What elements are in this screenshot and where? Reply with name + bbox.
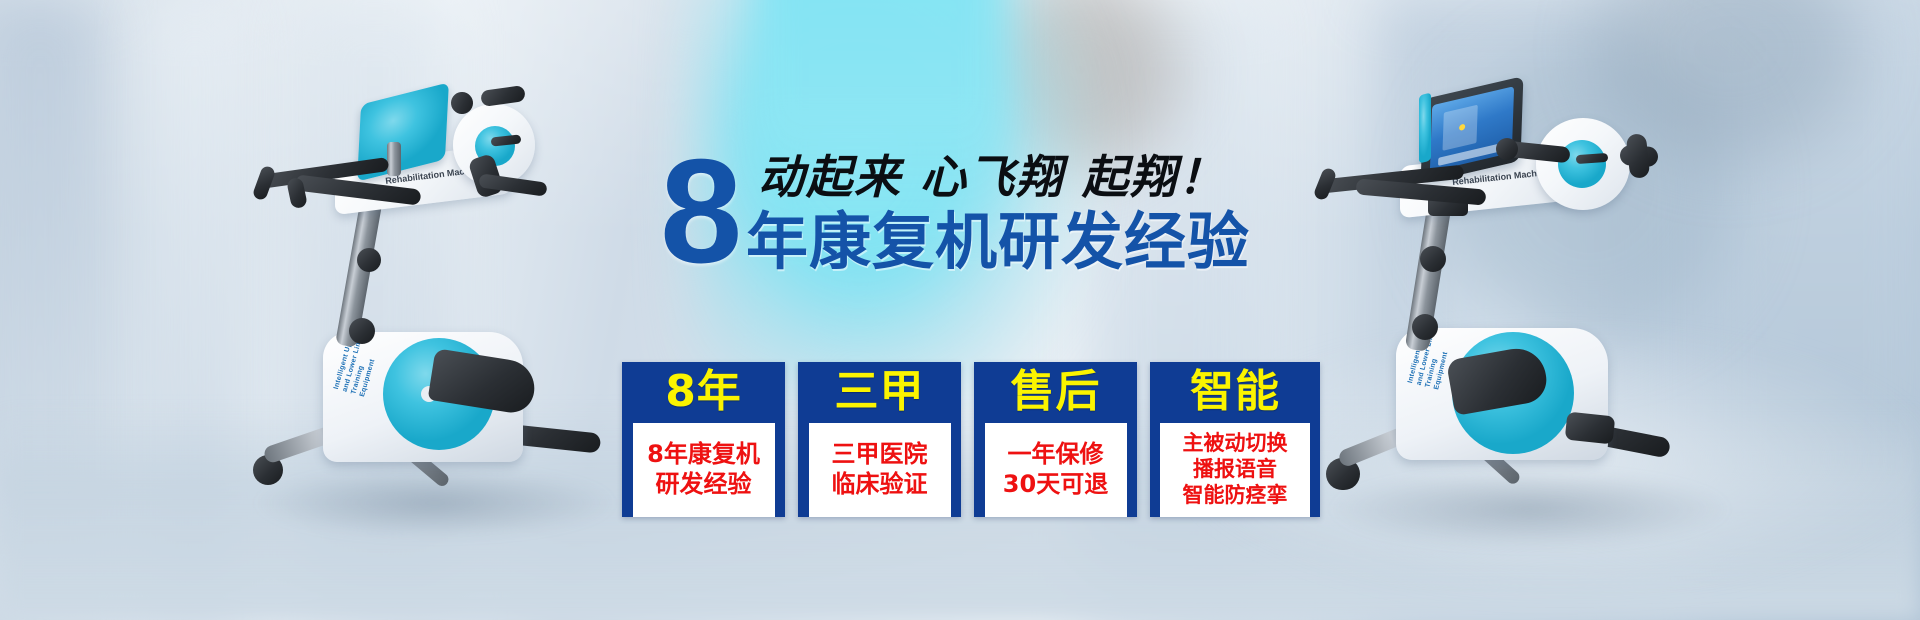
lower-pedal-strap — [1565, 412, 1616, 445]
feature-card-line: 三甲医院 — [832, 439, 928, 469]
feature-card-line: 30天可退 — [1003, 469, 1108, 499]
height-knob-upper — [357, 248, 381, 272]
arm-wheel-cap — [1626, 133, 1650, 179]
feature-card-title: 售后 — [1011, 366, 1101, 418]
product-shadow — [1330, 470, 1730, 548]
headline-block: 8 动起来 心飞翔 起翔！ 年康复机研发经验 — [660, 150, 1300, 300]
feature-card-list: 8年 8年康复机 研发经验 三甲 三甲医院 临床验证 售后 一年保修 30天可退… — [622, 362, 1320, 517]
product-image-right: Intelligent Upper and Lower Limb Trainin… — [1300, 60, 1760, 550]
feature-card-years[interactable]: 8年 8年康复机 研发经验 — [622, 362, 785, 517]
height-knob-lower — [349, 318, 375, 344]
height-knob-lower — [1412, 314, 1438, 340]
arm-handle-knob — [1496, 138, 1518, 160]
feature-card-panel: 8年康复机 研发经验 — [633, 423, 775, 517]
feature-card-panel: 一年保修 30天可退 — [985, 423, 1127, 517]
feature-card-line: 智能防痉挛 — [1183, 482, 1288, 508]
feature-card-aftersales[interactable]: 售后 一年保修 30天可退 — [974, 362, 1137, 517]
headline-big-number: 8 — [660, 138, 742, 286]
feature-card-line: 研发经验 — [656, 469, 752, 499]
feature-card-panel: 三甲医院 临床验证 — [809, 423, 951, 517]
feature-card-hospital[interactable]: 三甲 三甲医院 临床验证 — [798, 362, 961, 517]
feature-card-panel: 主被动切换 播报语音 智能防痉挛 — [1160, 423, 1310, 517]
product-image-left: Intelligent Upper and Lower Limb Trainin… — [235, 70, 655, 540]
headline-slogan: 动起来 心飞翔 起翔！ — [758, 152, 1226, 202]
feature-card-line: 一年保修 — [1008, 439, 1104, 469]
feature-card-line: 播报语音 — [1193, 456, 1277, 482]
promo-banner: Intelligent Upper and Lower Limb Trainin… — [0, 0, 1920, 620]
feature-card-line: 主被动切换 — [1183, 430, 1288, 456]
feature-card-title: 三甲 — [835, 366, 925, 418]
feature-card-line: 临床验证 — [832, 469, 928, 499]
feature-card-smart[interactable]: 智能 主被动切换 播报语音 智能防痉挛 — [1150, 362, 1320, 517]
screen-stem — [387, 142, 401, 176]
feature-card-title: 智能 — [1190, 366, 1280, 418]
headline-main: 年康复机研发经验 — [746, 208, 1250, 276]
screen-edge-accent — [1419, 92, 1431, 163]
feature-card-title: 8年 — [665, 366, 742, 418]
feature-card-line: 8年康复机 — [647, 439, 760, 469]
arm-wheel-bar — [480, 85, 526, 107]
height-knob-upper — [1420, 246, 1446, 272]
